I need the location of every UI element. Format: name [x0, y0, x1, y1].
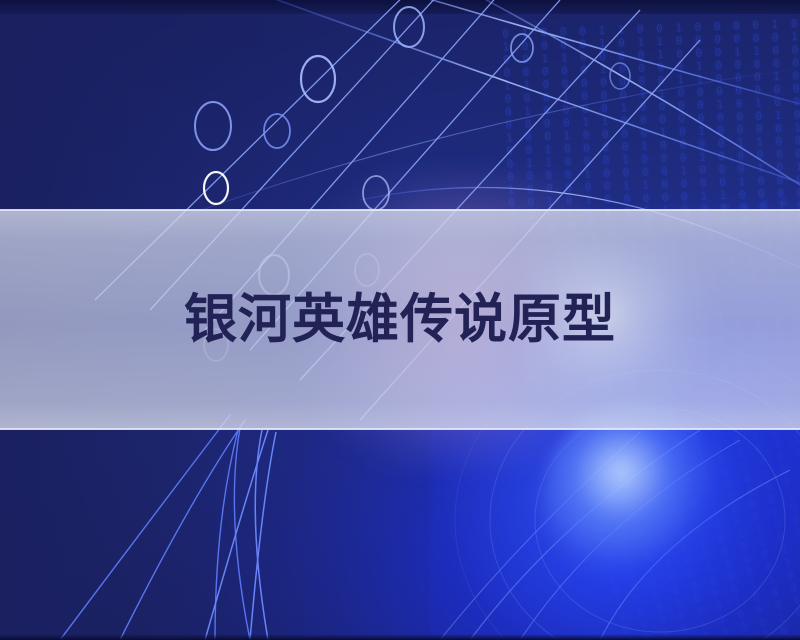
page-title: 银河英雄传说原型 — [184, 293, 616, 346]
background-bottom-edge — [0, 634, 800, 640]
light-sweep-lines — [60, 415, 250, 640]
title-container: 银河英雄传说原型 — [0, 210, 800, 429]
banner-image: 0 1 0 0 0 1 1 0 0 1 0 0 0 0 1 0 1 1 0 0 … — [0, 0, 800, 640]
